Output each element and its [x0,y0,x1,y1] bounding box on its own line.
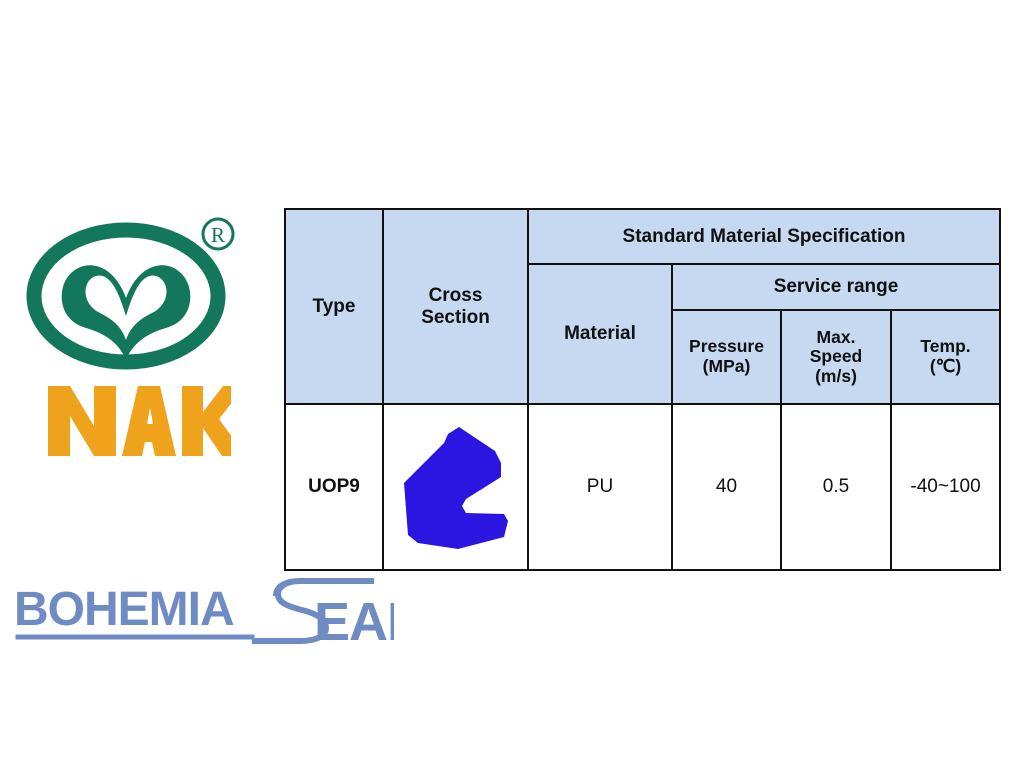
cell-material: PU [528,404,672,570]
spec-table: Type Cross Section Standard Material Spe… [284,208,1001,571]
cell-max-speed: 0.5 [781,404,891,570]
column-header-cross-section: Cross Section [383,209,528,404]
temp-label-line2: (℃) [930,356,961,376]
cell-pressure: 40 [672,404,781,570]
max-speed-label-line2: Speed [810,346,863,366]
specification-table: Type Cross Section Standard Material Spe… [284,208,999,548]
cell-cross-section [383,404,528,570]
pressure-label-line1: Pressure [689,336,764,356]
column-header-material: Material [528,264,672,404]
column-header-type: Type [285,209,383,404]
group-header-standard-material-specification: Standard Material Specification [528,209,1000,264]
cross-section-label-line2: Section [421,307,490,328]
eal-text: EAL [314,592,394,648]
nak-wordmark [46,382,231,460]
bohemia-seal-wordmark: BOHEMIA EAL [14,578,394,648]
registered-trademark-icon: R [203,219,233,249]
table-header-row-1: Type Cross Section Standard Material Spe… [285,209,1000,264]
table-row: UOP9 PU 40 0.5 -40~100 [285,404,1000,570]
max-speed-label-line1: Max. [817,327,856,347]
max-speed-label-line3: (m/s) [815,366,857,386]
svg-text:R: R [211,223,225,247]
temp-label-line1: Temp. [920,336,970,356]
nak-logo: R NAK [22,212,252,462]
pressure-label-line2: (MPa) [703,356,751,376]
cell-type: UOP9 [285,404,383,570]
column-header-max-speed: Max. Speed (m/s) [781,310,891,404]
column-header-temp: Temp. (℃) [891,310,1000,404]
group-header-service-range: Service range [672,264,1000,310]
nak-emblem-icon: R [22,212,252,387]
bohemia-text: BOHEMIA [14,583,234,636]
cross-section-label-line1: Cross [429,285,483,306]
u-cup-seal-profile-icon [396,421,516,553]
cell-temp: -40~100 [891,404,1000,570]
bohemia-seal-logo: BOHEMIA EAL [14,578,394,648]
column-header-pressure: Pressure (MPa) [672,310,781,404]
